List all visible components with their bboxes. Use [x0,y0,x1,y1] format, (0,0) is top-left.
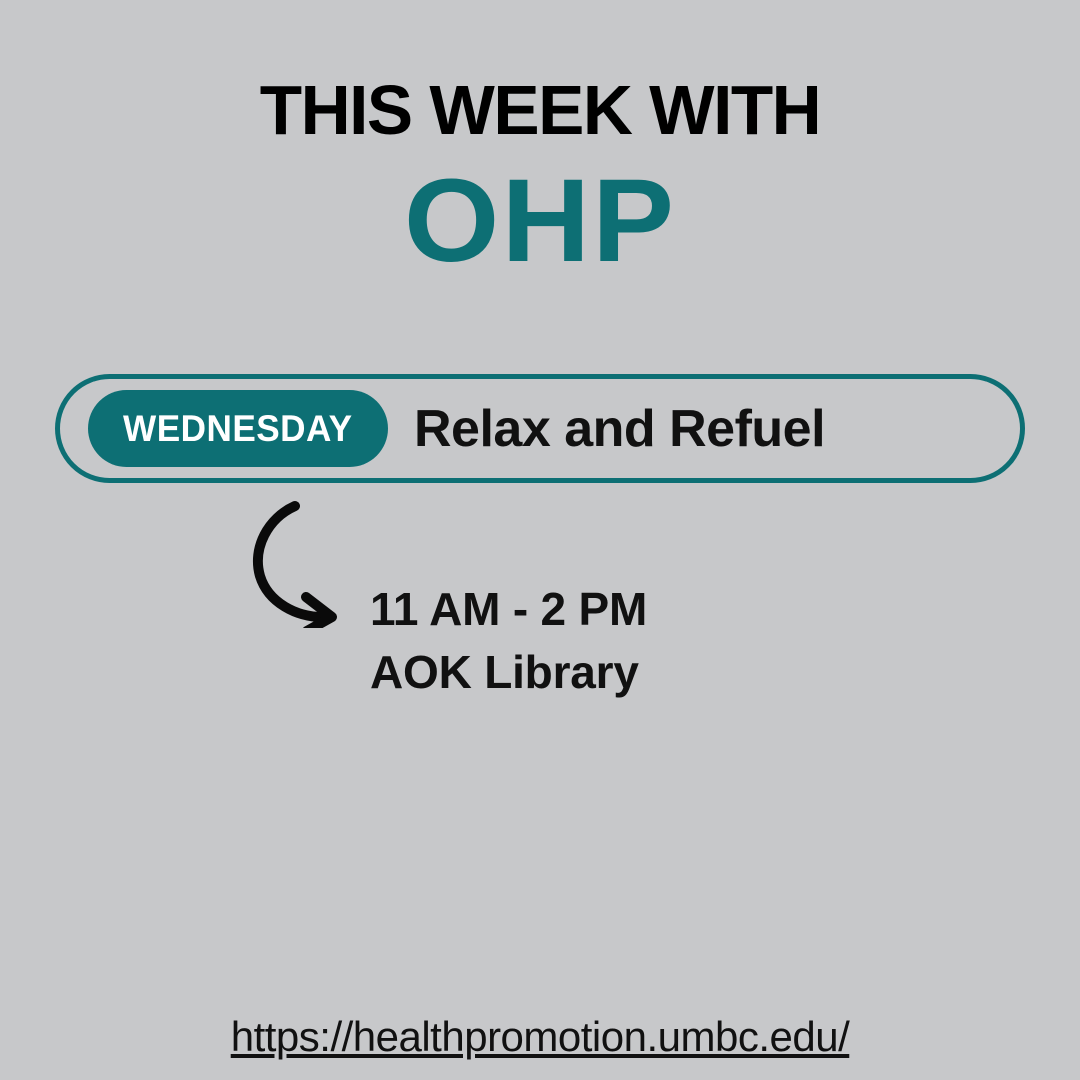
event-location: AOK Library [370,641,990,704]
event-pill: WEDNESDAY Relax and Refuel [55,374,1025,483]
page-title: THIS WEEK WITH [5,74,1074,146]
event-details: 11 AM - 2 PM AOK Library [370,578,990,704]
event-title: Relax and Refuel [414,401,825,457]
brand-logo-text: OHP [0,168,1080,274]
event-time: 11 AM - 2 PM [370,578,990,641]
footer-url: https://healthpromotion.umbc.edu/ [0,1013,1080,1061]
flyer-canvas: THIS WEEK WITH OHP WEDNESDAY Relax and R… [0,0,1080,1080]
curved-arrow-icon [248,498,358,628]
day-badge-label: WEDNESDAY [123,410,353,447]
day-badge: WEDNESDAY [88,390,388,467]
header-block: THIS WEEK WITH OHP [0,74,1080,274]
website-link[interactable]: https://healthpromotion.umbc.edu/ [231,1013,850,1060]
